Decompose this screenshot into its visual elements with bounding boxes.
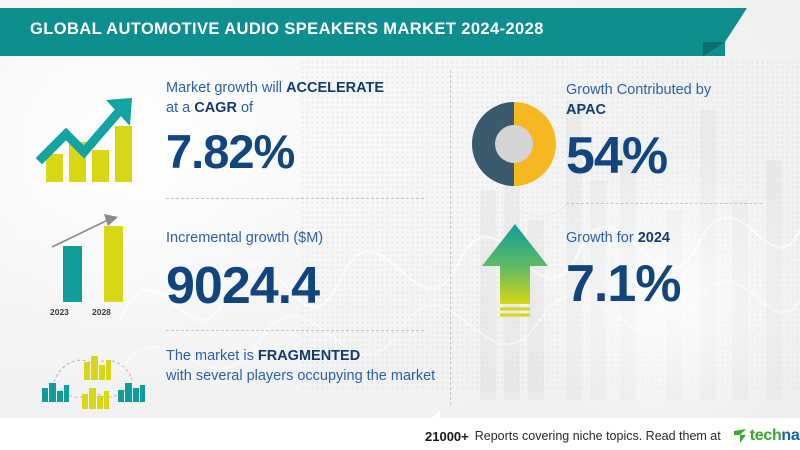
fragmented-text-2: with several players occupying the marke… [166, 368, 435, 384]
growth-bar-chart-arrow-icon [36, 86, 148, 186]
cagr-text-3: of [237, 100, 253, 116]
cagr-word: CAGR [194, 100, 237, 116]
report-count: 21000+ [425, 429, 469, 444]
divider-right-1 [566, 203, 762, 204]
incremental-growth-value: 9024.4 [166, 260, 319, 312]
divider-vertical-center [450, 70, 451, 405]
logo-text-tech: tech [750, 427, 782, 445]
apac-value: 54% [566, 130, 667, 182]
banner-corner-fold [725, 8, 747, 42]
bar-label-2028: 2028 [92, 307, 111, 317]
growth-2024-year: 2024 [638, 230, 670, 246]
divider-left-1 [166, 198, 424, 199]
technavio-flag-icon [733, 428, 748, 444]
technavio-logo[interactable]: technavio° [733, 427, 800, 445]
incremental-growth-label: Incremental growth ($M) [166, 228, 431, 248]
donut-chart-icon [468, 98, 560, 190]
cagr-text-2: at a [166, 100, 194, 116]
growth-2024-description: Growth for 2024 [566, 228, 786, 248]
fragmented-text-1: The market is [166, 348, 258, 364]
city-clusters-network-icon [34, 346, 152, 412]
page-title: GLOBAL AUTOMOTIVE AUDIO SPEAKERS MARKET … [30, 20, 544, 39]
growth-2024-text: Growth for [566, 230, 638, 246]
cagr-accelerate-word: ACCELERATE [286, 80, 384, 96]
two-bar-comparison-icon [38, 212, 148, 307]
banner-corner-shadow [703, 42, 725, 56]
apac-text-1: Growth Contributed by [566, 82, 711, 98]
divider-left-2 [166, 330, 424, 331]
fragmented-word: FRAGMENTED [258, 348, 360, 364]
cagr-text-1: Market growth will [166, 80, 286, 96]
footer-tagline: Reports covering niche topics. Read them… [475, 429, 721, 443]
logo-text-navio: navio [781, 427, 800, 445]
cagr-description: Market growth will ACCELERATE at a CAGR … [166, 78, 431, 118]
bar-label-2023: 2023 [50, 307, 69, 317]
infographic-canvas: GLOBAL AUTOMOTIVE AUDIO SPEAKERS MARKET … [0, 0, 800, 450]
footer-content: 21000+ Reports covering niche topics. Re… [425, 426, 785, 446]
cagr-value: 7.82% [166, 128, 294, 175]
apac-region: APAC [566, 102, 606, 118]
up-arrow-gradient-icon [478, 222, 552, 322]
apac-description: Growth Contributed by APAC [566, 80, 786, 120]
growth-2024-value: 7.1% [566, 258, 681, 310]
fragmented-description: The market is FRAGMENTED with several pl… [166, 346, 438, 386]
